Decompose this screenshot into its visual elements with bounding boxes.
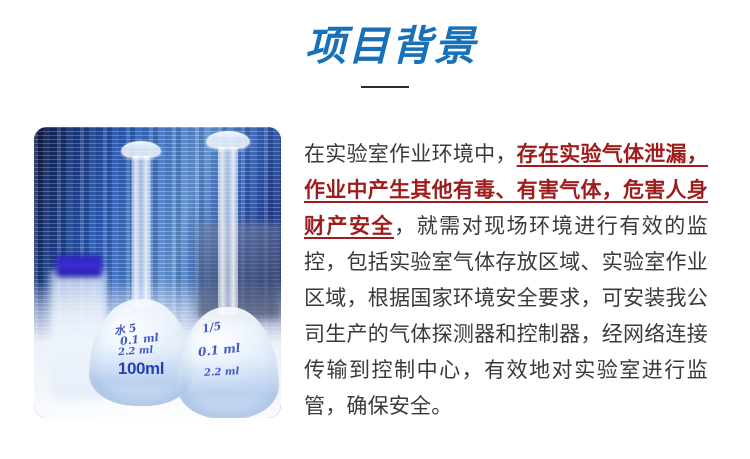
flask-volume-label: 100ml bbox=[118, 359, 164, 379]
body-text-rest: ，就需对现场环境进行有效的监控，包括实验室气体存放区域、实验室作业区域，根据国家… bbox=[304, 215, 708, 418]
volumetric-flask-right: 1/5 0.1 ml 2.2 ml bbox=[174, 131, 281, 416]
body-paragraph: 在实验室作业环境中，存在实验气体泄漏，作业中产生其他有毒、有害气体，危害人身财产… bbox=[304, 137, 708, 425]
flask-neck bbox=[132, 156, 151, 308]
page-title: 项目背景 bbox=[305, 22, 625, 70]
project-background-section: 项目背景 水 5 0.1 ml 2.2 ml 100ml 1/5 0.1 ml … bbox=[0, 0, 750, 459]
flask-handwritten-mark: 2.2 ml bbox=[204, 366, 240, 379]
title-underline-rule bbox=[361, 86, 409, 88]
laboratory-photo: 水 5 0.1 ml 2.2 ml 100ml 1/5 0.1 ml 2.2 m… bbox=[34, 127, 281, 418]
title-block: 项目背景 bbox=[305, 22, 625, 88]
flask-neck bbox=[218, 147, 238, 315]
flask-bulb bbox=[177, 307, 279, 418]
body-text-lead: 在实验室作业环境中， bbox=[304, 143, 517, 166]
